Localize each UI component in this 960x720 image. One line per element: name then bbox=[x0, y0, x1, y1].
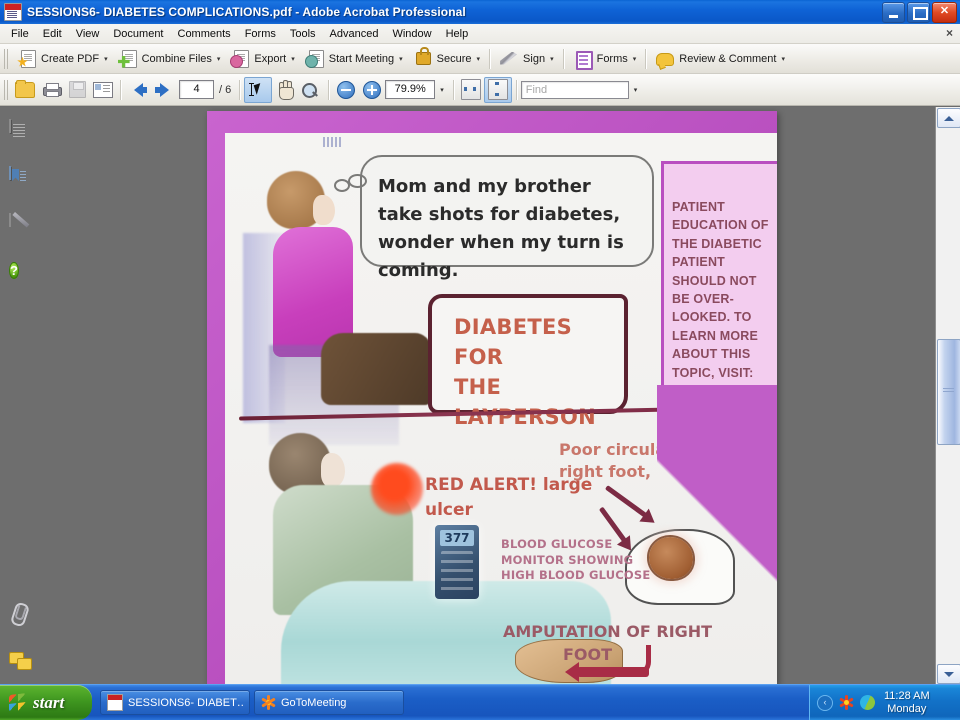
page-total-label: / 6 bbox=[219, 84, 231, 96]
taskbar-item-label: GoToMeeting bbox=[281, 697, 346, 709]
chevron-down-icon[interactable]: ▾ bbox=[104, 55, 108, 63]
forms-icon bbox=[573, 50, 593, 68]
scroll-down-button[interactable] bbox=[937, 664, 960, 684]
select-tool-button[interactable] bbox=[244, 77, 272, 103]
secure-label: Secure bbox=[437, 53, 472, 65]
amputation-line-2: FOOT bbox=[503, 643, 753, 666]
arrow-to-stump bbox=[577, 667, 649, 677]
toolbar-grip[interactable] bbox=[4, 80, 9, 100]
gotomeeting-icon bbox=[261, 695, 276, 710]
export-button[interactable]: Export ▾ bbox=[225, 47, 299, 71]
fit-page-button[interactable] bbox=[484, 77, 512, 103]
clock-time: 11:28 AM bbox=[884, 690, 930, 703]
review-comment-label: Review & Comment bbox=[679, 53, 776, 65]
arrow-to-ulcer-upper bbox=[605, 485, 653, 522]
patient-education-card: PATIENT EDUCATION OF THE DIABETIC PATIEN… bbox=[661, 161, 777, 433]
export-icon bbox=[230, 50, 250, 68]
toolbar-separator bbox=[328, 80, 329, 100]
clock-day: Monday bbox=[884, 703, 930, 716]
toolbar-separator bbox=[239, 80, 240, 100]
menu-document[interactable]: Document bbox=[106, 26, 170, 42]
menu-help[interactable]: Help bbox=[439, 26, 476, 42]
glucose-monitor-buttons bbox=[441, 551, 473, 593]
red-alert-annotation: RED ALERT! large ulcer bbox=[425, 473, 605, 523]
window-title: SESSIONS6- DIABETES COMPLICATIONS.pdf - … bbox=[27, 5, 466, 19]
restore-button[interactable] bbox=[907, 2, 930, 23]
toolbar-separator bbox=[120, 80, 121, 100]
arrow-right-icon bbox=[154, 82, 174, 98]
hand-tool-button[interactable] bbox=[272, 78, 298, 102]
start-label: start bbox=[33, 693, 64, 713]
gotomeeting-tray-icon[interactable] bbox=[839, 695, 854, 710]
find-dropdown-icon[interactable]: ▾ bbox=[634, 86, 638, 94]
magnifier-icon bbox=[302, 82, 320, 98]
speech-bubble-text: Mom and my brother take shots for diabet… bbox=[378, 173, 640, 285]
combine-files-icon bbox=[118, 50, 138, 68]
chevron-down-icon bbox=[944, 672, 954, 677]
title-card: DIABETES FOR THE LAYPERSON bbox=[428, 294, 628, 414]
sidebar-item-pages[interactable] bbox=[9, 120, 33, 144]
illustration-canvas: Mom and my brother take shots for diabet… bbox=[225, 133, 777, 685]
page-number-input[interactable]: 4 bbox=[179, 80, 214, 99]
close-button[interactable]: ✕ bbox=[932, 2, 957, 23]
email-button[interactable] bbox=[90, 78, 116, 102]
page-navigation-toolbar: 4 / 6 79.9% ▾ Find ▾ bbox=[0, 74, 960, 106]
tasks-toolbar: Create PDF ▾ Combine Files ▾ Export ▾ St… bbox=[0, 44, 960, 74]
window-controls: ✕ bbox=[882, 2, 957, 23]
chevron-down-icon[interactable]: ▾ bbox=[781, 55, 785, 63]
floppy-save-icon bbox=[69, 81, 86, 98]
menu-tools[interactable]: Tools bbox=[283, 26, 323, 42]
export-label: Export bbox=[254, 53, 286, 65]
sign-button[interactable]: Sign ▾ bbox=[494, 47, 559, 71]
arrow-left-icon bbox=[128, 82, 148, 98]
marquee-zoom-button[interactable] bbox=[298, 78, 324, 102]
menu-comments[interactable]: Comments bbox=[171, 26, 238, 42]
start-meeting-label: Start Meeting bbox=[329, 53, 394, 65]
recording-tray-icon[interactable] bbox=[858, 693, 878, 713]
navigation-pane: ? bbox=[0, 107, 42, 685]
seated-person-face bbox=[313, 195, 335, 225]
system-tray: ‹ 11:28 AM Monday bbox=[809, 685, 960, 720]
printer-icon bbox=[43, 83, 60, 97]
save-button[interactable] bbox=[64, 78, 90, 102]
fit-width-button[interactable] bbox=[458, 78, 484, 102]
start-meeting-button[interactable]: Start Meeting ▾ bbox=[300, 47, 408, 71]
menu-file[interactable]: File bbox=[4, 26, 36, 42]
find-placeholder-text: Find bbox=[526, 84, 547, 96]
title-line-2: THE bbox=[454, 372, 624, 402]
speech-bubble: Mom and my brother take shots for diabet… bbox=[360, 155, 654, 267]
patient-face bbox=[321, 453, 345, 487]
zoom-in-button[interactable] bbox=[359, 78, 385, 102]
chevron-down-icon[interactable]: ▾ bbox=[399, 55, 403, 63]
title-line-3: LAYPERSON bbox=[454, 402, 624, 432]
speech-bubble-tail-large bbox=[348, 174, 367, 188]
scribble-mark bbox=[323, 137, 341, 147]
find-input[interactable]: Find bbox=[521, 81, 629, 99]
menu-edit[interactable]: Edit bbox=[36, 26, 69, 42]
page-thumbnails-icon bbox=[9, 119, 11, 133]
amputation-annotation: AMPUTATION OF RIGHT FOOT bbox=[503, 620, 753, 666]
sidebar-item-comments[interactable] bbox=[9, 652, 33, 676]
toolbar-separator bbox=[563, 49, 564, 69]
windows-flag-icon bbox=[9, 693, 26, 712]
review-comment-icon bbox=[655, 50, 675, 68]
chevron-down-icon[interactable]: ▾ bbox=[217, 55, 221, 63]
combine-files-label: Combine Files bbox=[142, 53, 212, 65]
email-icon bbox=[93, 82, 113, 98]
print-button[interactable] bbox=[38, 78, 64, 102]
zoom-out-button[interactable] bbox=[333, 78, 359, 102]
glucose-monitor-screen: 377 bbox=[440, 530, 474, 546]
fit-page-icon bbox=[488, 79, 508, 100]
glucose-monitor-reading: 377 bbox=[440, 530, 474, 546]
tray-expand-icon[interactable]: ‹ bbox=[817, 695, 833, 711]
taskbar-item-acrobat[interactable]: SESSIONS6- DIABET… bbox=[100, 690, 250, 715]
menu-window[interactable]: Window bbox=[385, 26, 438, 42]
minus-circle-icon bbox=[337, 81, 355, 99]
lap-blanket-sketch bbox=[321, 333, 431, 405]
pdf-document-icon bbox=[4, 3, 22, 21]
minimize-button[interactable] bbox=[882, 2, 905, 23]
title-bar: SESSIONS6- DIABETES COMPLICATIONS.pdf - … bbox=[0, 0, 960, 24]
sign-label: Sign bbox=[523, 53, 545, 65]
glucose-monitor-device: 377 bbox=[435, 525, 479, 599]
chevron-down-icon[interactable]: ▾ bbox=[550, 55, 554, 63]
zoom-dropdown-icon[interactable]: ▾ bbox=[440, 86, 444, 94]
start-meeting-icon bbox=[305, 50, 325, 68]
help-question-icon: ? bbox=[9, 262, 19, 279]
chevron-down-icon[interactable]: ▾ bbox=[291, 55, 295, 63]
sign-pen-icon bbox=[499, 50, 519, 68]
scroll-up-button[interactable] bbox=[937, 108, 960, 128]
toolbar-separator bbox=[453, 80, 454, 100]
hand-icon bbox=[277, 82, 294, 98]
glucose-monitor-annotation: BLOOD GLUCOSE MONITOR SHOWING HIGH BLOOD… bbox=[501, 537, 661, 584]
folder-icon bbox=[15, 82, 35, 98]
next-page-button[interactable] bbox=[151, 78, 177, 102]
menu-advanced[interactable]: Advanced bbox=[323, 26, 386, 42]
menu-bar: File Edit View Document Comments Forms T… bbox=[0, 24, 960, 44]
pdf-page: Mom and my brother take shots for diabet… bbox=[207, 111, 777, 685]
review-comment-button[interactable]: Review & Comment ▾ bbox=[650, 47, 790, 71]
secure-lock-icon bbox=[413, 50, 433, 68]
sidebar-item-signatures[interactable] bbox=[9, 214, 33, 238]
menu-view[interactable]: View bbox=[69, 26, 107, 42]
signatures-icon bbox=[9, 213, 11, 227]
create-pdf-icon bbox=[17, 50, 37, 68]
taskbar: start SESSIONS6- DIABET… GoToMeeting ‹ 1… bbox=[0, 684, 960, 720]
text-select-cursor-icon bbox=[248, 82, 268, 98]
fit-width-icon bbox=[461, 79, 481, 100]
pdf-document-icon bbox=[107, 694, 123, 711]
start-button[interactable]: start bbox=[0, 685, 92, 720]
document-view[interactable]: Mom and my brother take shots for diabet… bbox=[41, 107, 935, 685]
taskbar-item-label: SESSIONS6- DIABET… bbox=[128, 697, 243, 709]
bookmarks-icon bbox=[9, 166, 11, 180]
title-line-1: DIABETES FOR bbox=[454, 312, 624, 372]
application-window: SESSIONS6- DIABETES COMPLICATIONS.pdf - … bbox=[0, 0, 960, 720]
toolbar-grip[interactable] bbox=[4, 49, 9, 69]
combine-files-button[interactable]: Combine Files ▾ bbox=[113, 47, 226, 71]
red-alert-dot bbox=[371, 463, 423, 515]
toolbar-separator bbox=[489, 49, 490, 69]
scrollbar-thumb[interactable] bbox=[937, 339, 960, 445]
toolbar-separator bbox=[645, 49, 646, 69]
menu-forms[interactable]: Forms bbox=[238, 26, 283, 42]
chevron-down-icon[interactable]: ▾ bbox=[633, 55, 637, 63]
taskbar-item-gotomeeting[interactable]: GoToMeeting bbox=[254, 690, 404, 715]
forms-label: Forms bbox=[597, 53, 628, 65]
chevron-down-icon[interactable]: ▾ bbox=[477, 55, 481, 63]
previous-page-button[interactable] bbox=[125, 78, 151, 102]
patient-education-text: PATIENT EDUCATION OF THE DIABETIC PATIEN… bbox=[672, 198, 772, 419]
forms-button[interactable]: Forms ▾ bbox=[568, 47, 642, 71]
sidebar-item-bookmarks[interactable] bbox=[9, 167, 33, 191]
system-clock[interactable]: 11:28 AM Monday bbox=[884, 690, 930, 716]
amputation-line-1: AMPUTATION OF RIGHT bbox=[503, 622, 712, 641]
open-button[interactable] bbox=[12, 78, 38, 102]
create-pdf-label: Create PDF bbox=[41, 53, 99, 65]
secure-button[interactable]: Secure ▾ bbox=[408, 47, 485, 71]
toolbar-separator bbox=[516, 80, 517, 100]
close-document-icon[interactable]: × bbox=[946, 27, 953, 39]
plus-circle-icon bbox=[363, 81, 381, 99]
zoom-level-input[interactable]: 79.9% bbox=[385, 80, 435, 99]
chevron-up-icon bbox=[944, 116, 954, 121]
vertical-scrollbar[interactable] bbox=[935, 107, 960, 685]
sidebar-item-how-to[interactable]: ? bbox=[9, 261, 33, 285]
create-pdf-button[interactable]: Create PDF ▾ bbox=[12, 47, 113, 71]
sidebar-item-attachments[interactable] bbox=[9, 602, 33, 626]
